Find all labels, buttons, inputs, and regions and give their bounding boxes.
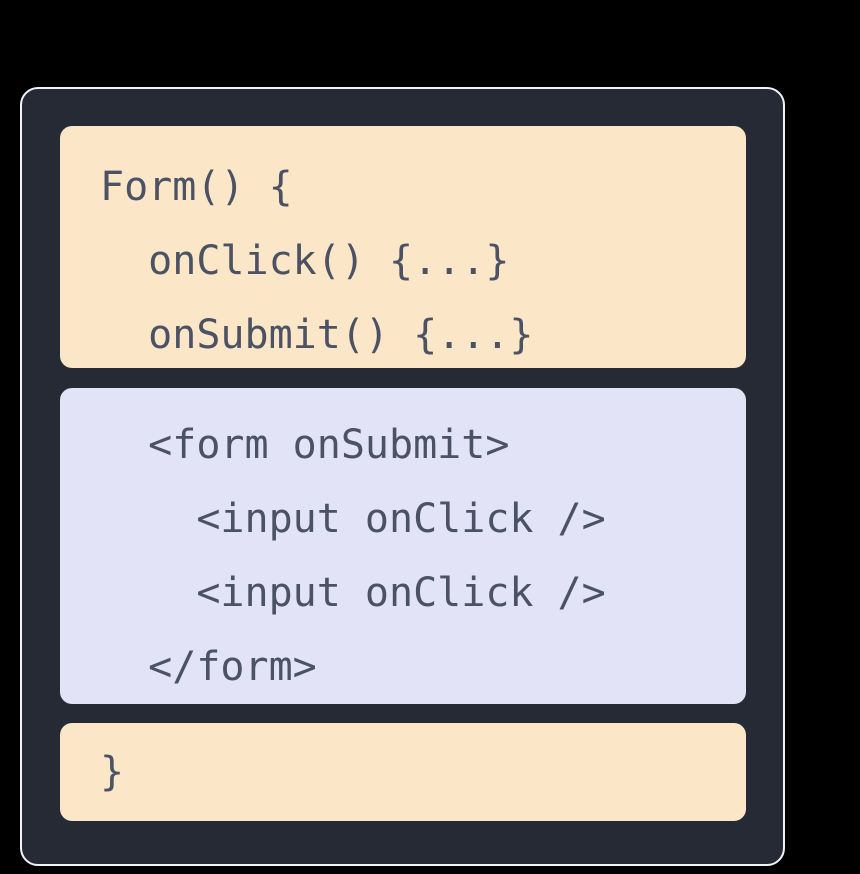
code-line: <form onSubmit> xyxy=(100,408,746,482)
panel-markup: <form onSubmit> <input onClick /> <input… xyxy=(60,388,746,704)
code-line: Form() { xyxy=(100,150,746,224)
code-line: } xyxy=(100,735,746,809)
code-line: onClick() {...} xyxy=(100,224,746,298)
code-line: </form> xyxy=(100,630,746,704)
code-card: Form() { onClick() {...} onSubmit() {...… xyxy=(20,87,785,866)
code-block-markup: <form onSubmit> <input onClick /> <input… xyxy=(60,388,746,704)
code-line: <input onClick /> xyxy=(100,556,746,630)
code-line: <input onClick /> xyxy=(100,482,746,556)
code-block-component-top: Form() { onClick() {...} onSubmit() {...… xyxy=(60,126,746,368)
code-block-component-close: } xyxy=(60,723,746,809)
code-line: onSubmit() {...} xyxy=(100,298,746,368)
panel-component-top: Form() { onClick() {...} onSubmit() {...… xyxy=(60,126,746,368)
panel-component-close: } xyxy=(60,723,746,821)
canvas: Form() { onClick() {...} onSubmit() {...… xyxy=(0,0,860,874)
